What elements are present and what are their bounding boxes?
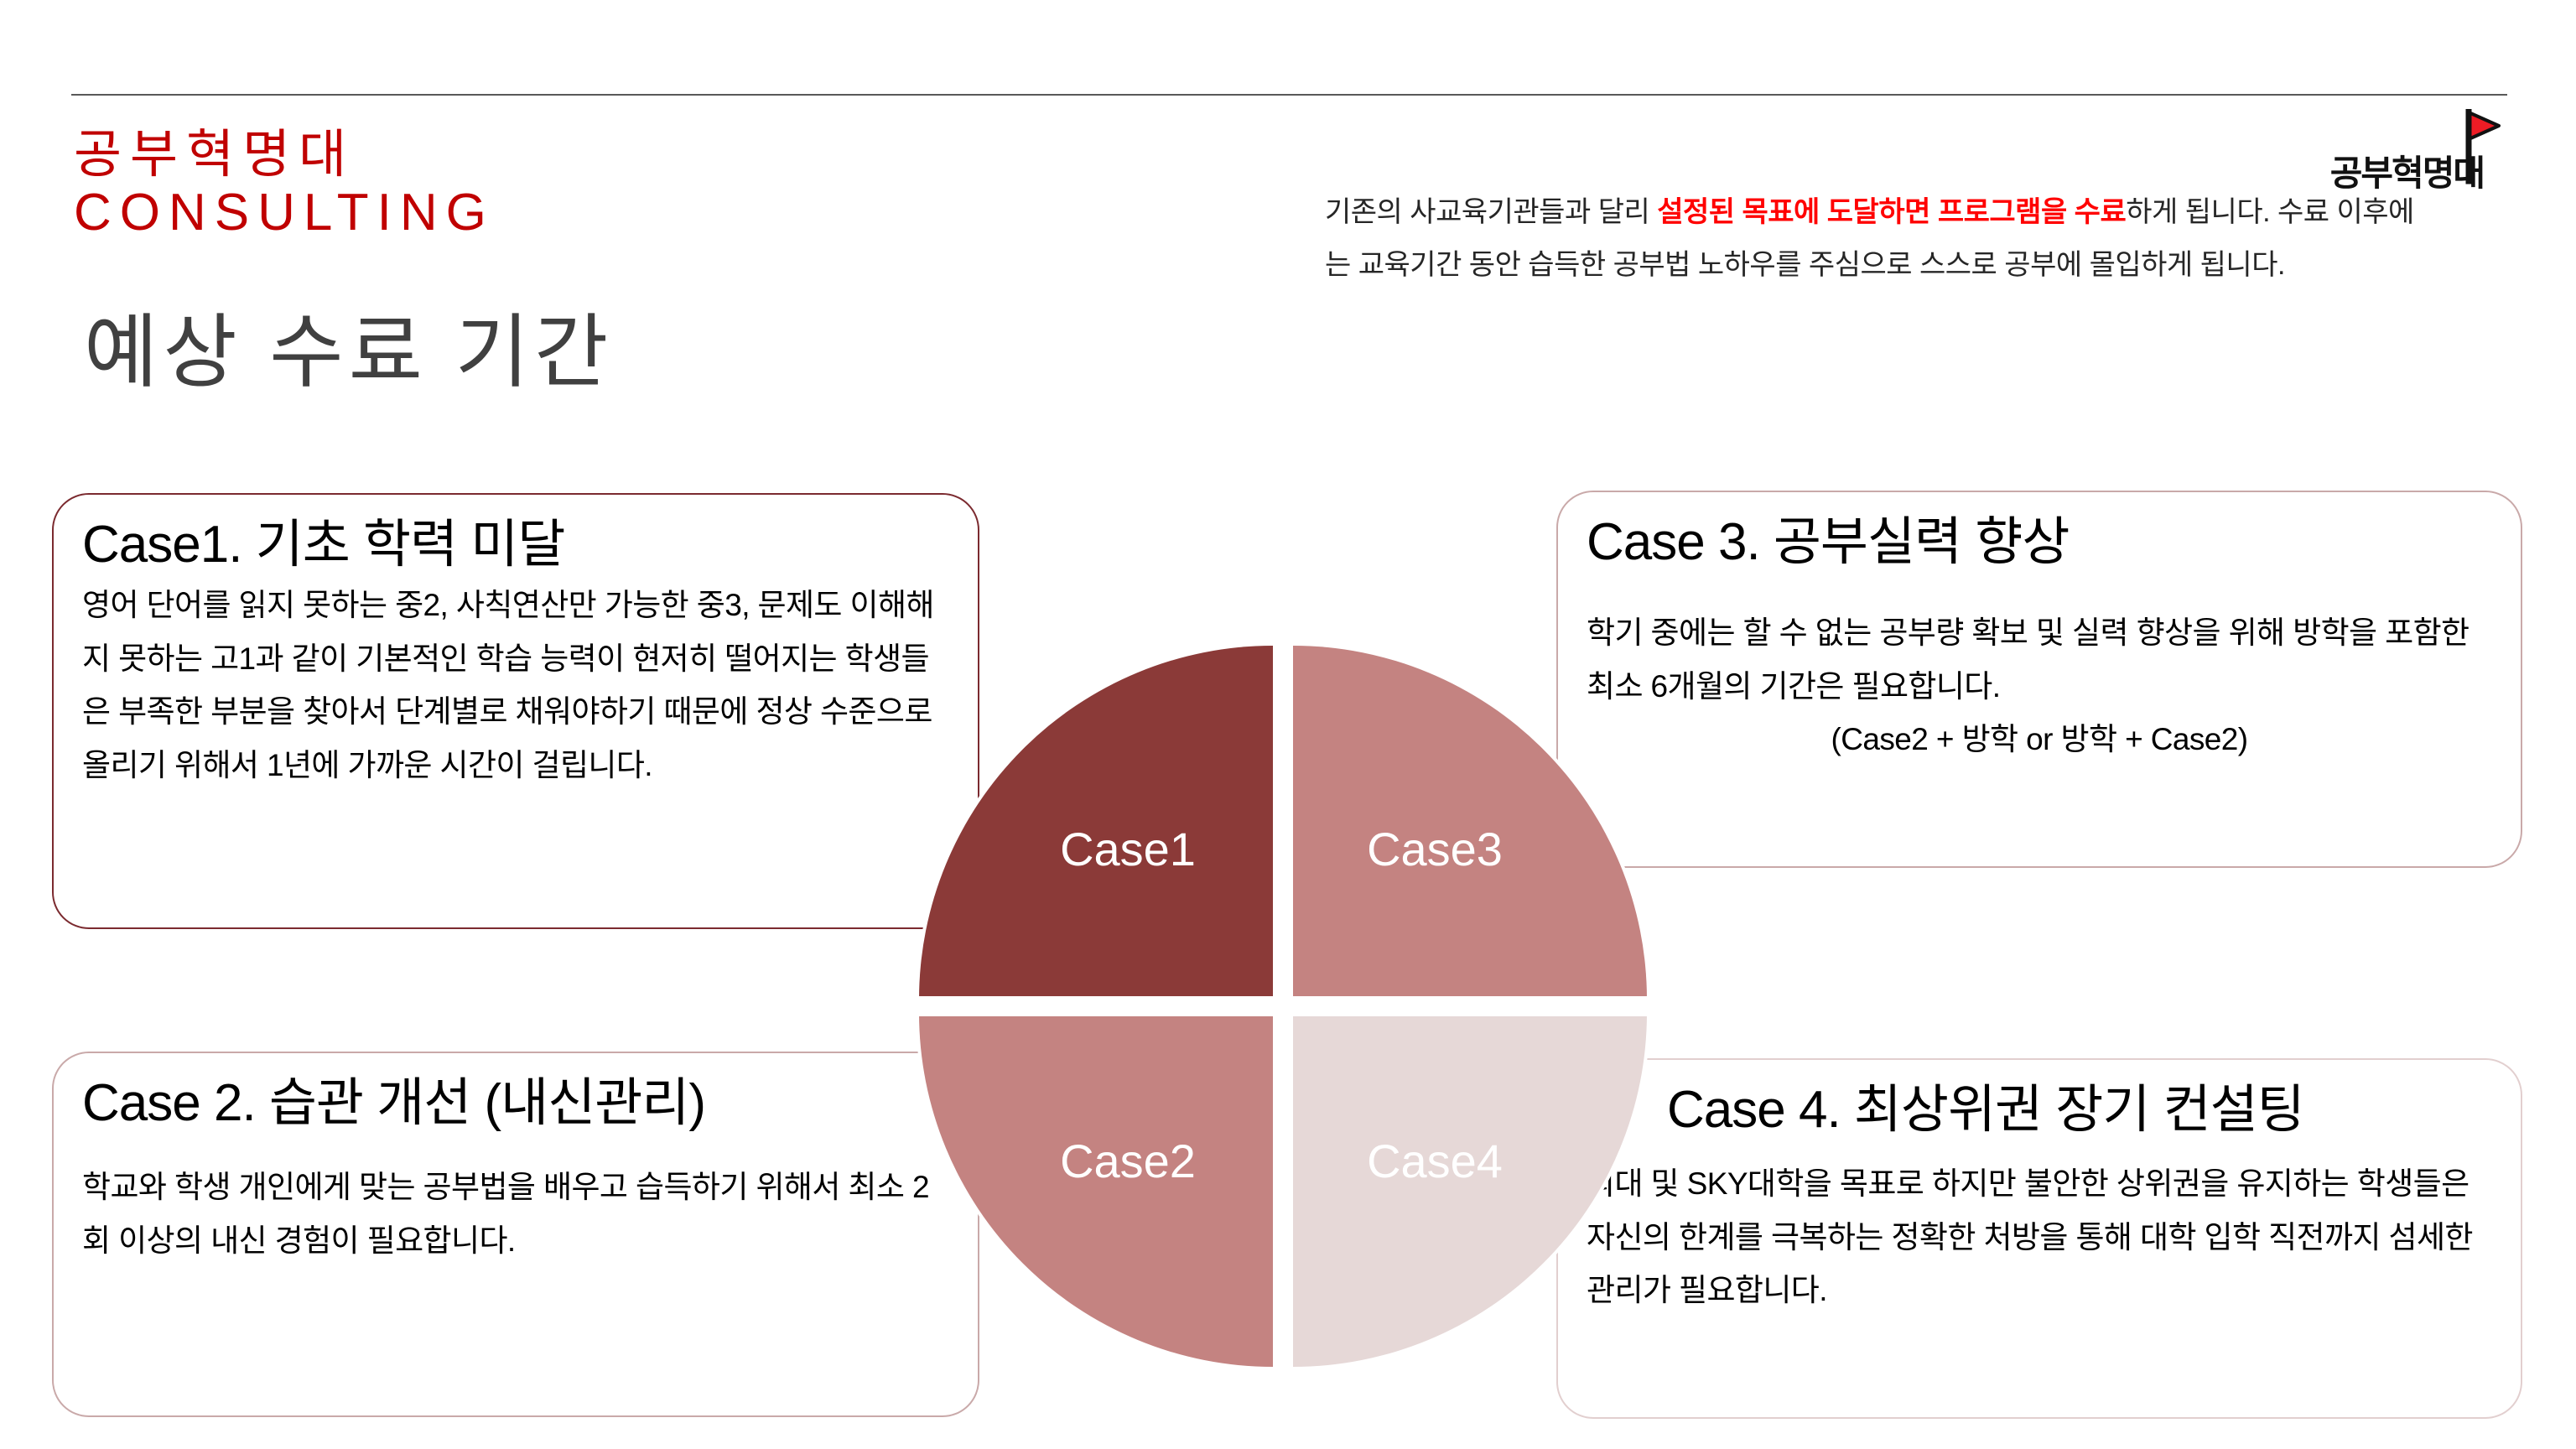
case1-title: Case1. 기초 학력 미달: [82, 517, 949, 574]
case4-body: 의대 및 SKY대학을 목표로 하지만 불안한 상위권을 유지하는 학생들은 자…: [1587, 1157, 2492, 1317]
case3-card[interactable]: Case 3. 공부실력 향상 학기 중에는 할 수 없는 공부량 확보 및 실…: [1556, 491, 2522, 868]
brand-block: 공부혁명대 CONSULTING: [74, 126, 828, 242]
brand-name-korean: 공부혁명대: [74, 126, 828, 184]
case3-note: (Case2 + 방학 or 방학 + Case2): [1587, 713, 2492, 766]
case2-title: Case 2. 습관 개선 (내신관리): [82, 1075, 949, 1132]
case3-body: 학기 중에는 할 수 없는 공부량 확보 및 실력 향상을 위해 방학을 포함한…: [1587, 606, 2492, 713]
case4-card[interactable]: Case 4. 최상위권 장기 컨설팅 의대 및 SKY대학을 목표로 하지만 …: [1556, 1058, 2522, 1419]
quadrant-case3-label: Case3: [1367, 826, 1503, 873]
quadrant-case1[interactable]: Case1: [916, 642, 1276, 1000]
case2-body: 학교와 학생 개인에게 맞는 공부법을 배우고 습득하기 위해서 최소 2회 이…: [82, 1161, 949, 1267]
case3-title: Case 3. 공부실력 향상: [1587, 514, 2492, 571]
intro-text-highlight: 설정된 목표에 도달하면 프로그램을 수료: [1657, 196, 2126, 228]
case2-card[interactable]: Case 2. 습관 개선 (내신관리) 학교와 학생 개인에게 맞는 공부법을…: [52, 1052, 979, 1417]
header-divider: [71, 94, 2507, 96]
case-quadrant-diagram: Case1 Case3 Case2 Case4: [916, 642, 1650, 1370]
case4-title: Case 4. 최상위권 장기 컨설팅: [1587, 1082, 2492, 1139]
brand-name-english: CONSULTING: [74, 184, 828, 241]
quadrant-case1-label: Case1: [1060, 826, 1196, 873]
quadrant-case4-label: Case4: [1367, 1138, 1503, 1185]
quadrant-case2[interactable]: Case2: [916, 1013, 1276, 1370]
quadrant-case2-label: Case2: [1060, 1138, 1196, 1185]
intro-paragraph: 기존의 사교육기관들과 달리 설정된 목표에 도달하면 프로그램을 수료하게 됩…: [1325, 186, 2415, 292]
intro-text-part1: 기존의 사교육기관들과 달리: [1325, 196, 1657, 228]
case1-card[interactable]: Case1. 기초 학력 미달 영어 단어를 읽지 못하는 중2, 사칙연산만 …: [52, 493, 979, 929]
quadrant-case3[interactable]: Case3: [1290, 642, 1650, 1000]
quadrant-case4[interactable]: Case4: [1290, 1013, 1650, 1370]
case1-body: 영어 단어를 읽지 못하는 중2, 사칙연산만 가능한 중3, 문제도 이해해지…: [82, 579, 949, 792]
page-title: 예상 수료 기간: [84, 309, 613, 397]
